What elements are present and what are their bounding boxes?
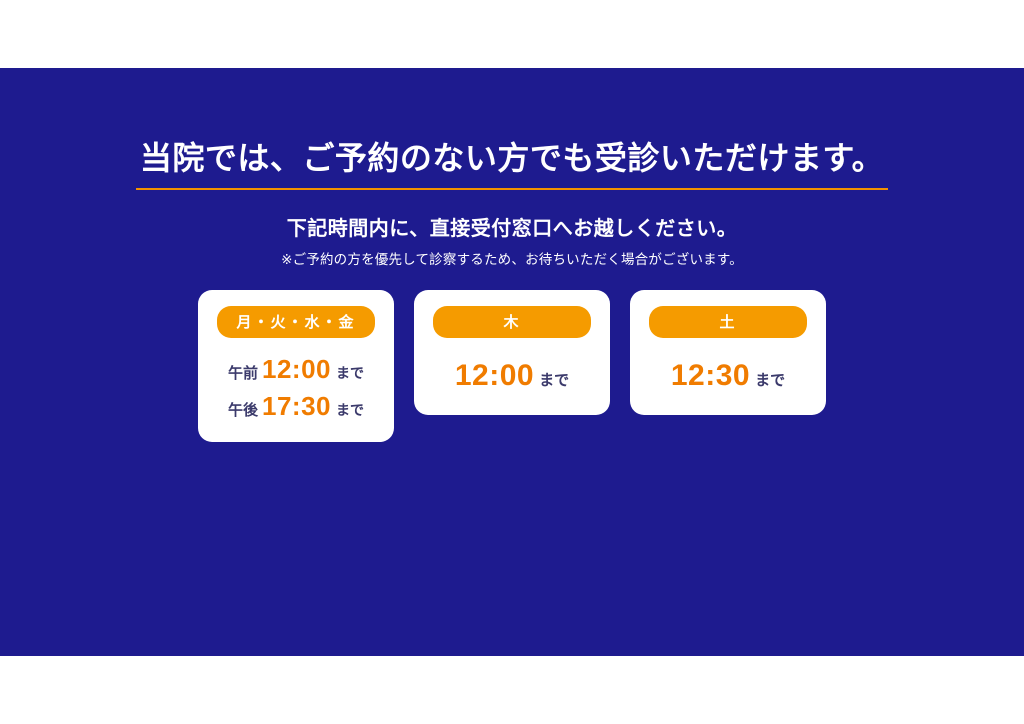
subheadline: 下記時間内に、直接受付窓口へお越しください。 bbox=[0, 212, 1024, 241]
page-title: 当院では、ご予約のない方でも受診いただけます。 bbox=[136, 138, 888, 190]
hours-card-weekday: 月・火・水・金 午前 12:00 まで 午後 17:30 まで bbox=[198, 290, 394, 442]
hours-time-afternoon: 17:30 bbox=[262, 389, 331, 424]
hours-row-saturday: 12:30 まで bbox=[630, 356, 826, 397]
headline-container: 当院では、ご予約のない方でも受診いただけます。 bbox=[0, 138, 1024, 190]
hours-time-saturday: 12:30 bbox=[671, 356, 750, 397]
hours-suffix-saturday: まで bbox=[755, 371, 785, 391]
hours-rows-thursday: 12:00 まで bbox=[414, 356, 610, 397]
hours-card-saturday: 土 12:30 まで bbox=[630, 290, 826, 415]
hours-suffix-morning: まで bbox=[336, 364, 364, 383]
hours-label-morning: 午前 bbox=[228, 364, 258, 384]
hours-rows-saturday: 12:30 まで bbox=[630, 356, 826, 397]
hours-row-thursday: 12:00 まで bbox=[414, 356, 610, 397]
hours-rows-weekday: 午前 12:00 まで 午後 17:30 まで bbox=[198, 352, 394, 424]
hours-suffix-afternoon: まで bbox=[336, 401, 364, 420]
day-badge-weekday: 月・火・水・金 bbox=[217, 306, 375, 338]
hours-card-list: 月・火・水・金 午前 12:00 まで 午後 17:30 まで 木 bbox=[0, 290, 1024, 442]
hours-card-thursday: 木 12:00 まで bbox=[414, 290, 610, 415]
hours-row-morning: 午前 12:00 まで bbox=[198, 352, 394, 387]
day-badge-thursday: 木 bbox=[433, 306, 591, 338]
hours-time-thursday: 12:00 bbox=[455, 356, 534, 397]
hours-suffix-thursday: まで bbox=[539, 371, 569, 391]
day-badge-saturday: 土 bbox=[649, 306, 807, 338]
hours-row-afternoon: 午後 17:30 まで bbox=[198, 389, 394, 424]
note-text: ※ご予約の方を優先して診察するため、お待ちいただく場合がございます。 bbox=[0, 248, 1024, 268]
page-root: 当院では、ご予約のない方でも受診いただけます。 下記時間内に、直接受付窓口へお越… bbox=[0, 0, 1024, 724]
hours-time-morning: 12:00 bbox=[262, 352, 331, 387]
hours-label-afternoon: 午後 bbox=[228, 401, 258, 421]
